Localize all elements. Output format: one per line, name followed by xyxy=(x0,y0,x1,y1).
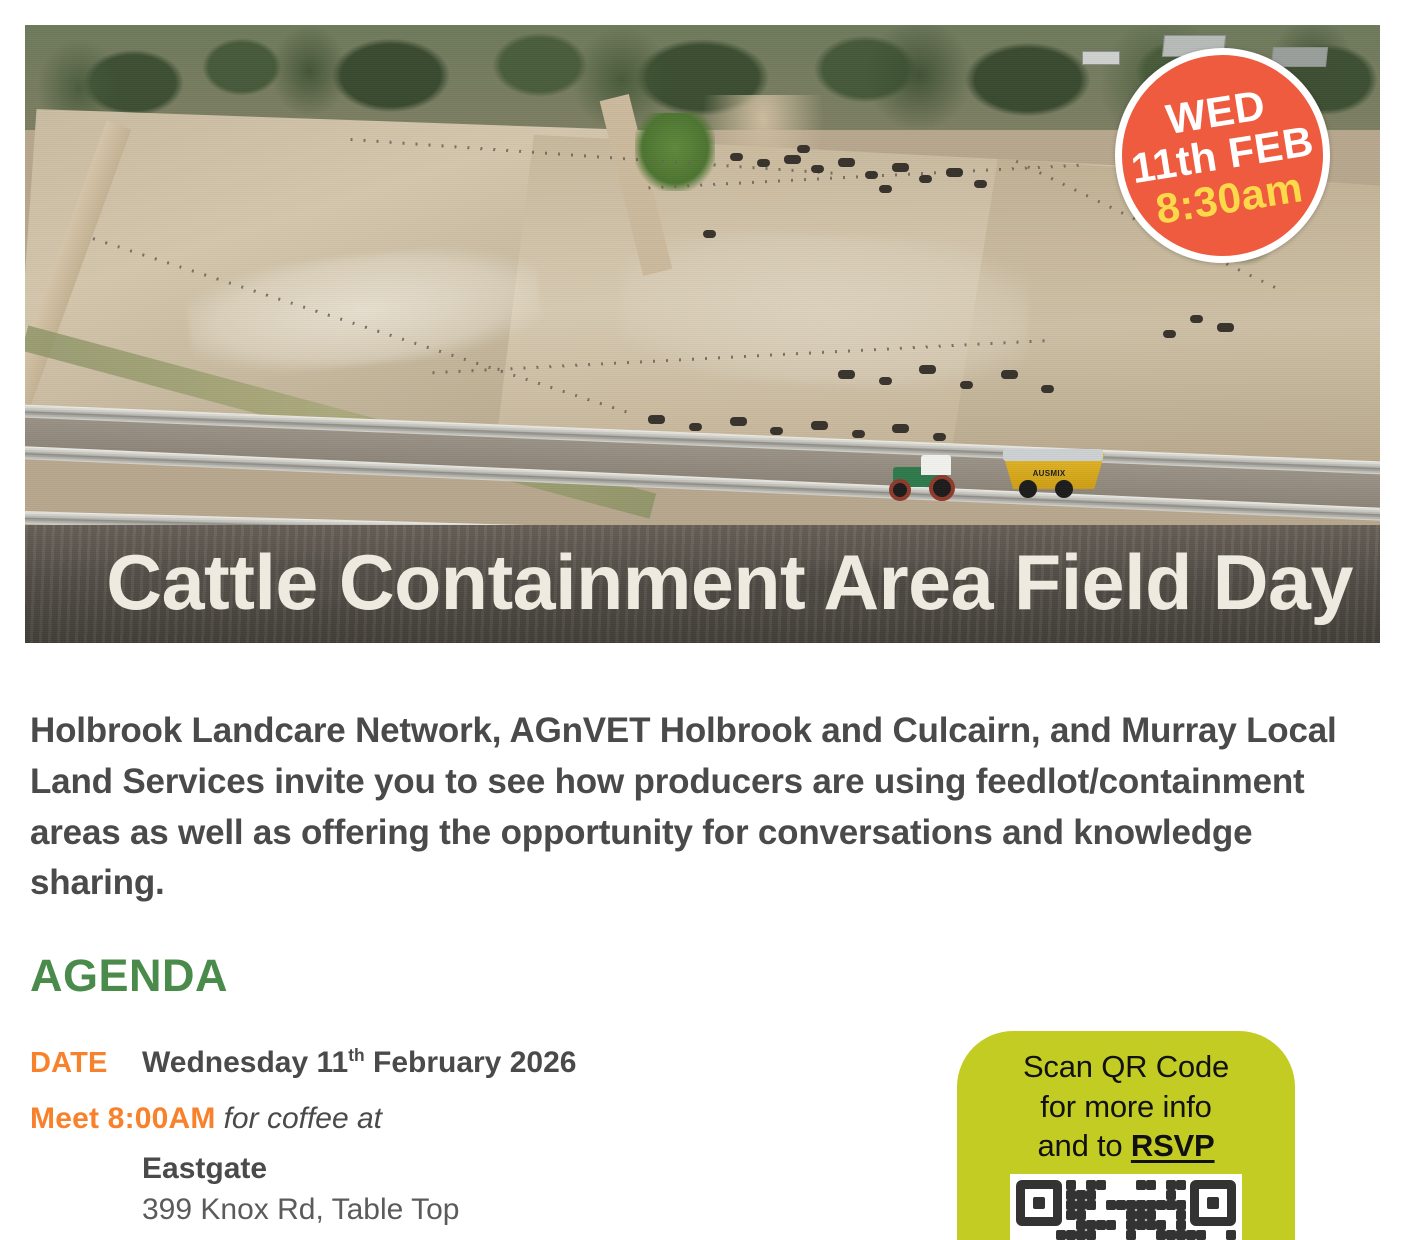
mixer-brand-label: AUSMIX xyxy=(1033,469,1066,478)
cattle-icon xyxy=(946,168,963,177)
cattle-icon xyxy=(811,165,824,173)
cattle-icon xyxy=(689,423,702,431)
date-value-suffix: February 2026 xyxy=(365,1046,577,1079)
cattle-icon xyxy=(1001,370,1018,379)
gum-tree-icon xyxy=(635,113,715,191)
meet-note: for coffee at xyxy=(224,1102,382,1135)
qr-code-image[interactable] xyxy=(1010,1174,1242,1240)
cattle-icon xyxy=(757,159,770,167)
cattle-icon xyxy=(1217,323,1234,332)
cattle-icon xyxy=(838,158,855,167)
qr-line-1: Scan QR Code xyxy=(957,1047,1295,1087)
qr-line-2: for more info xyxy=(957,1087,1295,1127)
venue-name: Eastgate xyxy=(142,1148,910,1189)
qr-line-3-prefix: and to xyxy=(1037,1128,1130,1163)
agenda-row-date: DATE Wednesday 11th February 2026 xyxy=(30,1045,910,1080)
qr-finder-top-right xyxy=(1190,1180,1236,1226)
cattle-icon xyxy=(852,430,865,438)
cattle-icon xyxy=(784,155,801,164)
cattle-icon xyxy=(879,185,892,193)
cattle-icon xyxy=(703,230,716,238)
cattle-icon xyxy=(974,180,987,188)
feed-mixer-wagon-icon: AUSMIX xyxy=(1001,445,1109,500)
cattle-icon xyxy=(770,427,783,435)
qr-instructions: Scan QR Code for more info and to RSVP xyxy=(957,1031,1295,1166)
cattle-icon xyxy=(933,433,946,441)
cattle-icon xyxy=(730,153,743,161)
flyer-page: AUSMIX Cattle Containment Area Field Day… xyxy=(0,0,1413,1240)
cattle-icon xyxy=(892,163,909,172)
cattle-icon xyxy=(865,171,878,179)
cattle-icon xyxy=(960,381,973,389)
cattle-icon xyxy=(919,365,936,374)
meet-time: Meet 8:00AM xyxy=(30,1102,216,1135)
cattle-icon xyxy=(730,417,747,426)
bare-ground-patch xyxy=(618,224,1032,395)
cattle-icon xyxy=(919,175,932,183)
cattle-icon xyxy=(838,370,855,379)
cattle-icon xyxy=(879,377,892,385)
date-label: DATE xyxy=(30,1047,142,1080)
rsvp-link[interactable]: RSVP xyxy=(1131,1128,1215,1163)
cattle-icon xyxy=(1163,330,1176,338)
page-title: Cattle Containment Area Field Day xyxy=(106,543,1353,621)
cattle-icon xyxy=(811,421,828,430)
cattle-icon xyxy=(892,424,909,433)
tractor-icon xyxy=(885,455,963,501)
date-value-prefix: Wednesday 11 xyxy=(142,1046,348,1079)
cattle-icon xyxy=(1190,315,1203,323)
qr-panel[interactable]: Scan QR Code for more info and to RSVP xyxy=(957,1031,1295,1240)
date-value: Wednesday 11th February 2026 xyxy=(142,1045,576,1080)
cattle-icon xyxy=(648,415,665,424)
dirt-track xyxy=(703,95,823,215)
agenda-details: DATE Wednesday 11th February 2026 Meet 8… xyxy=(30,1045,910,1231)
venue-block: Eastgate 399 Knox Rd, Table Top xyxy=(30,1148,910,1231)
cattle-icon xyxy=(797,145,810,153)
farm-shed-icon xyxy=(1082,51,1120,65)
agenda-row-meet: Meet 8:00AMfor coffee at xyxy=(30,1102,910,1136)
intro-paragraph: Holbrook Landcare Network, AGnVET Holbro… xyxy=(30,706,1370,909)
qr-finder-top-left xyxy=(1016,1180,1062,1226)
cattle-icon xyxy=(1041,385,1054,393)
agenda-heading: AGENDA xyxy=(30,950,228,1002)
date-ordinal-suffix: th xyxy=(348,1045,364,1065)
venue-address: 399 Knox Rd, Table Top xyxy=(142,1189,910,1230)
qr-line-3: and to RSVP xyxy=(957,1126,1295,1166)
